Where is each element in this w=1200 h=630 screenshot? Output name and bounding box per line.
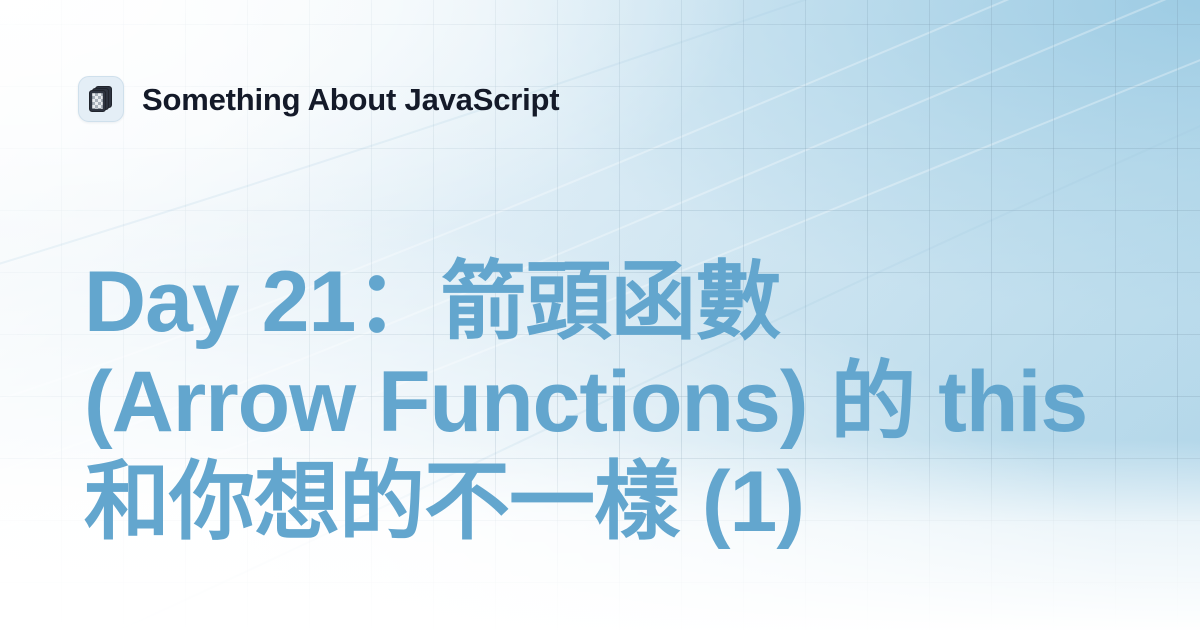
site-header: Something About JavaScript — [78, 76, 559, 122]
og-card: Something About JavaScript Day 21：箭頭函數 (… — [0, 0, 1200, 630]
post-title: Day 21：箭頭函數 (Arrow Functions) 的 this 和你想… — [84, 252, 1144, 552]
site-logo-badge — [78, 76, 124, 122]
stacked-books-checkerboard-icon — [86, 84, 116, 114]
post-title-line-3: 和你想的不一樣 (1) — [84, 452, 1144, 552]
post-title-line-1: Day 21：箭頭函數 — [84, 252, 1144, 352]
post-title-line-2: (Arrow Functions) 的 this — [84, 352, 1144, 452]
site-title: Something About JavaScript — [142, 84, 559, 115]
